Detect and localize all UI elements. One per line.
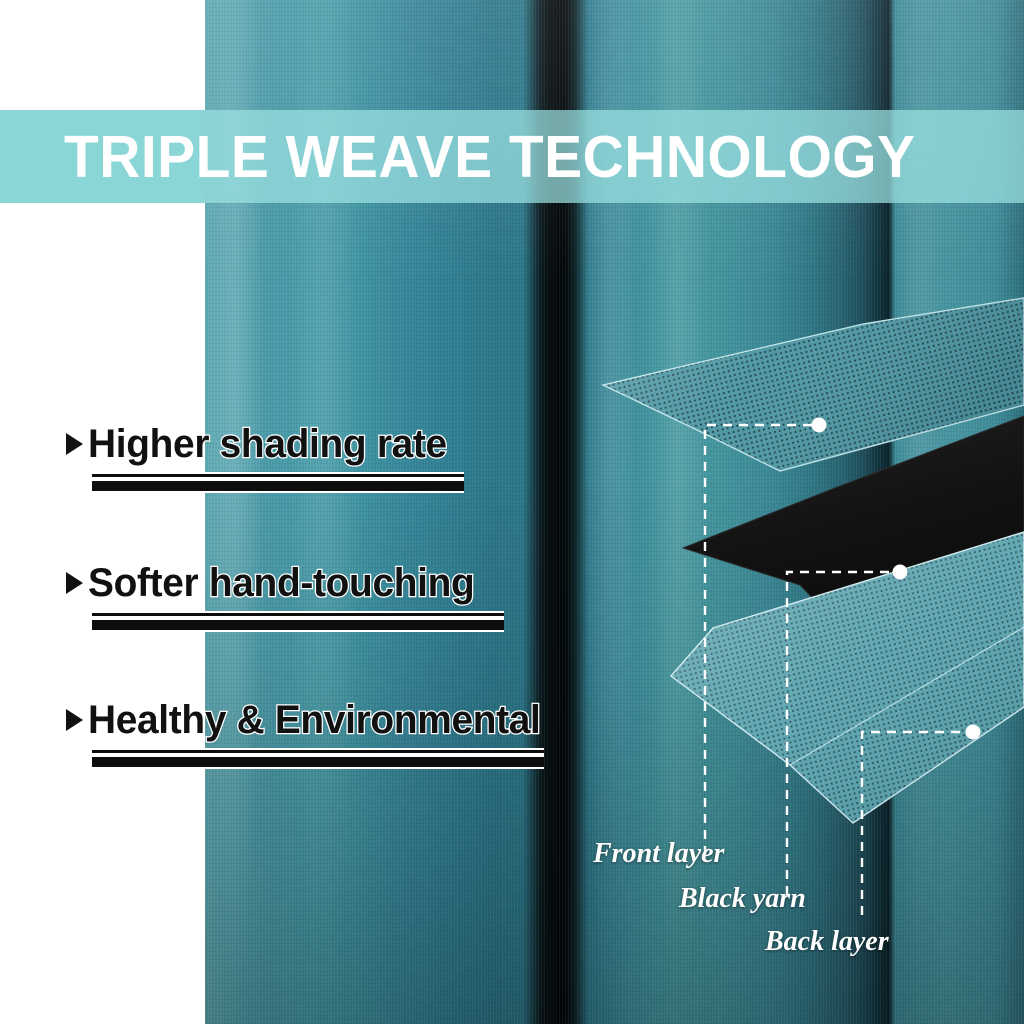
feature-underline <box>92 613 504 630</box>
feature-item-1: Higher shading rate <box>66 418 458 514</box>
feature-row: Healthy & Environmental <box>66 694 555 746</box>
fabric-layer-diagram <box>595 295 1024 855</box>
underline-thin <box>92 750 544 753</box>
triangle-right-icon <box>66 572 83 594</box>
feature-label: Higher shading rate <box>88 422 447 467</box>
feature-item-2: Softer hand-touching <box>66 557 486 653</box>
underline-thin <box>92 613 504 616</box>
feature-row: Softer hand-touching <box>66 557 486 609</box>
black-yarn-label: Black yarn <box>679 883 806 915</box>
feature-underline <box>92 750 544 767</box>
underline-thick <box>92 620 504 630</box>
underline-thin <box>92 474 464 477</box>
product-feature-infographic: TRIPLE WEAVE TECHNOLOGY Higher shading r… <box>0 0 1024 1024</box>
feature-label: Softer hand-touching <box>88 561 474 606</box>
callout-dot <box>812 418 827 433</box>
front-layer-label: Front layer <box>593 838 724 870</box>
page-title: TRIPLE WEAVE TECHNOLOGY <box>64 114 981 200</box>
underline-thick <box>92 757 544 767</box>
feature-underline <box>92 474 464 491</box>
triangle-right-icon <box>66 709 83 731</box>
underline-thick <box>92 481 464 491</box>
callout-dot <box>893 565 908 580</box>
back-layer-label: Back layer <box>765 926 889 958</box>
layer-diagram-svg <box>595 295 1024 915</box>
triangle-right-icon <box>66 433 83 455</box>
feature-row: Higher shading rate <box>66 418 458 470</box>
callout-dot <box>966 725 981 740</box>
feature-item-3: Healthy & Environmental <box>66 694 555 790</box>
feature-label: Healthy & Environmental <box>88 698 541 743</box>
